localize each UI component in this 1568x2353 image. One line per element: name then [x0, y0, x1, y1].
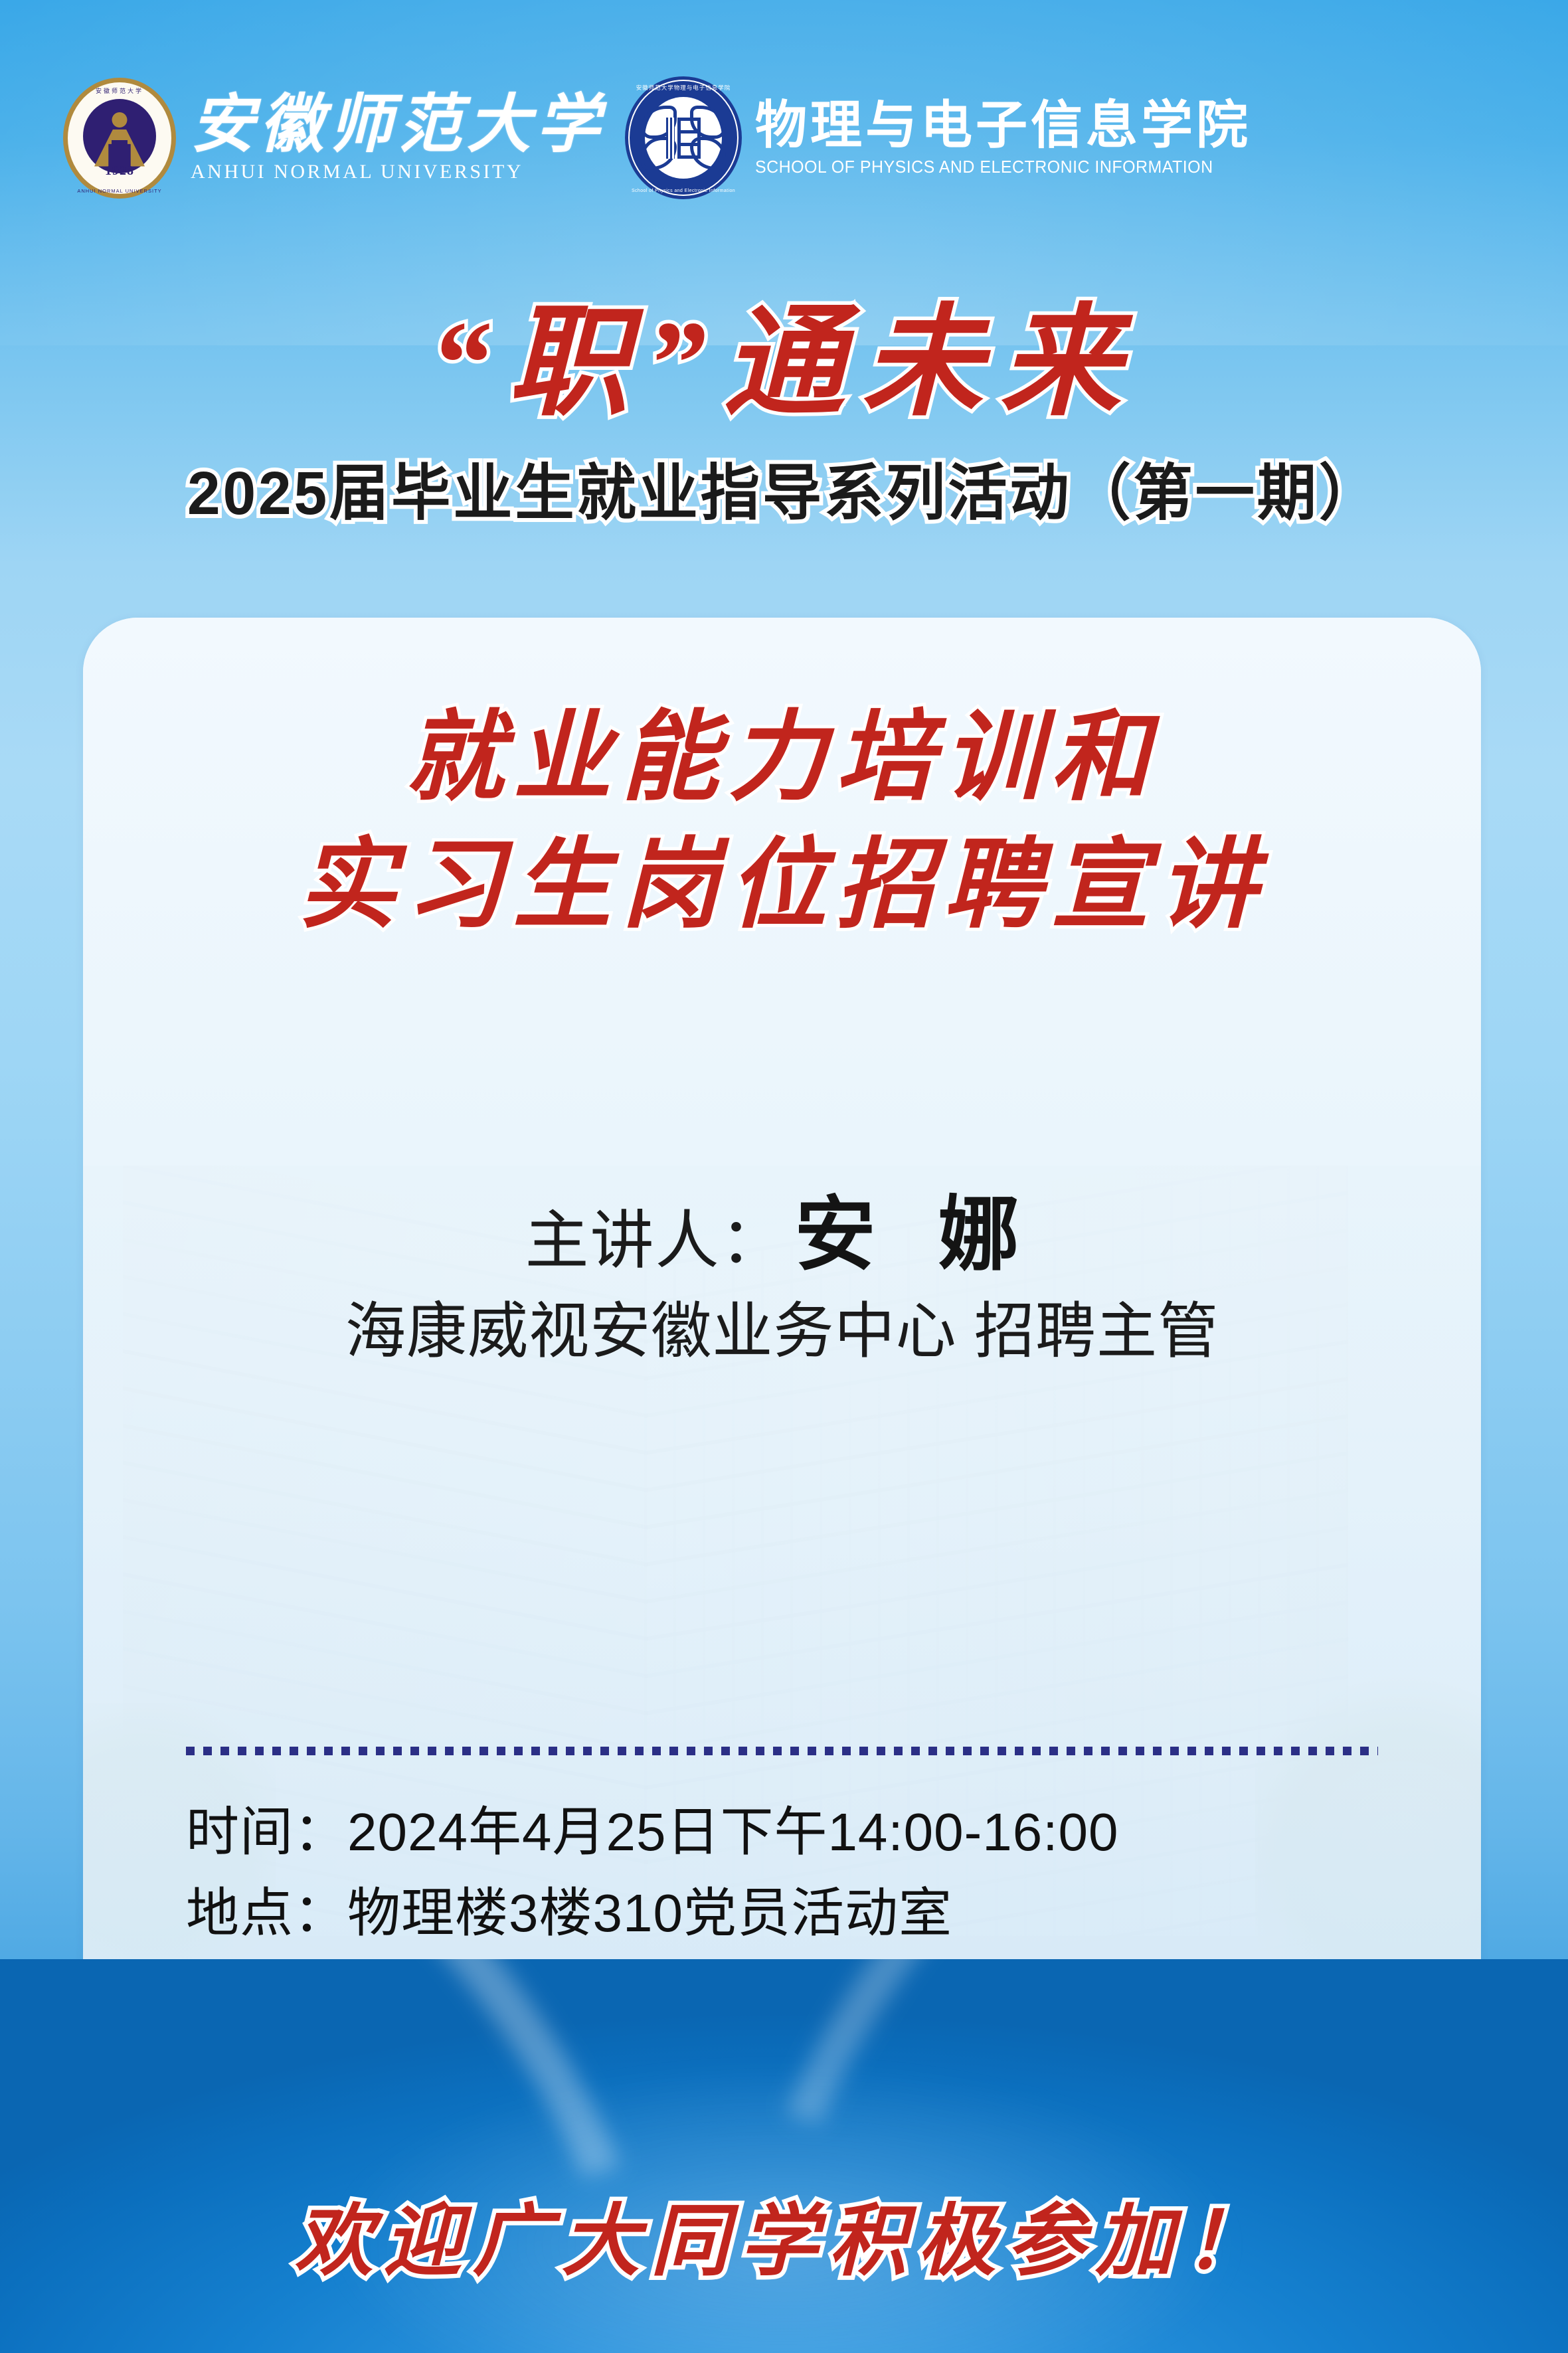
card-content: 就业能力培训和 实习生岗位招聘宣讲 主讲人：安 娜 海康威视安徽业务中心 招聘主…	[83, 618, 1481, 2062]
seal-figure-emblem-icon	[94, 112, 145, 167]
school-logo-block: 安徽师范大学物理与电子信息学院 School of Physics and El…	[605, 76, 1251, 199]
school-seal-glyph-icon	[666, 118, 701, 159]
event-location: 地点：物理楼3楼310党员活动室	[186, 1873, 1118, 1954]
poster-main-title: “职”通未来	[0, 264, 1568, 439]
event-info-card: 就业能力培训和 实习生岗位招聘宣讲 主讲人：安 娜 海康威视安徽业务中心 招聘主…	[83, 618, 1481, 2062]
event-heading-line-2: 实习生岗位招聘宣讲	[83, 837, 1481, 935]
university-name-chinese: 安徽师范大学	[191, 93, 605, 157]
event-time: 时间：2024年4月25日下午14:00-16:00	[186, 1792, 1118, 1873]
footer-call-to-action: 欢迎广大同学积极参加！	[0, 2177, 1568, 2291]
seal-arc-chinese: 安徽师范大学	[63, 86, 176, 95]
university-logo-block: 安徽师范大学 1928 ANHUI NORMAL UNIVERSITY 安徽师范…	[63, 78, 605, 199]
speaker-organization: 海康威视安徽业务中心 招聘主管	[90, 1282, 1474, 1370]
speaker-row: 主讲人：安 娜	[83, 1169, 1481, 1286]
poster-root: 安徽师范大学 1928 ANHUI NORMAL UNIVERSITY 安徽师范…	[0, 0, 1568, 2353]
school-name-block: 物理与电子信息学院 SCHOOL OF PHYSICS AND ELECTRON…	[755, 99, 1251, 177]
anhui-normal-university-seal-icon: 安徽师范大学 1928 ANHUI NORMAL UNIVERSITY	[63, 78, 176, 199]
school-name-chinese: 物理与电子信息学院	[755, 99, 1251, 151]
seal-arc-english: ANHUI NORMAL UNIVERSITY	[63, 188, 176, 194]
dotted-divider	[186, 1747, 1378, 1755]
school-of-physics-seal-icon: 安徽师范大学物理与电子信息学院 School of Physics and El…	[625, 76, 742, 199]
speaker-name: 安 娜	[795, 1189, 1039, 1280]
speaker-label: 主讲人：	[525, 1205, 786, 1276]
event-heading-line-1: 就业能力培训和	[83, 709, 1481, 808]
seal-founding-year: 1928	[63, 163, 176, 179]
footer-banner	[0, 1959, 1568, 2353]
event-meta-block: 时间：2024年4月25日下午14:00-16:00 地点：物理楼3楼310党员…	[186, 1792, 1118, 1953]
school-seal-arc-english: School of Physics and Electronic Informa…	[625, 189, 742, 193]
school-seal-arc-chinese: 安徽师范大学物理与电子信息学院	[625, 84, 742, 92]
poster-header: 安徽师范大学 1928 ANHUI NORMAL UNIVERSITY 安徽师范…	[63, 76, 1232, 199]
school-name-english: SCHOOL OF PHYSICS AND ELECTRONIC INFORMA…	[755, 157, 1231, 177]
poster-subtitle: 2025届毕业生就业指导系列活动（第一期）	[23, 444, 1544, 532]
university-name-block: 安徽师范大学 ANHUI NORMAL UNIVERSITY	[191, 93, 605, 183]
university-name-english: ANHUI NORMAL UNIVERSITY	[191, 161, 605, 183]
